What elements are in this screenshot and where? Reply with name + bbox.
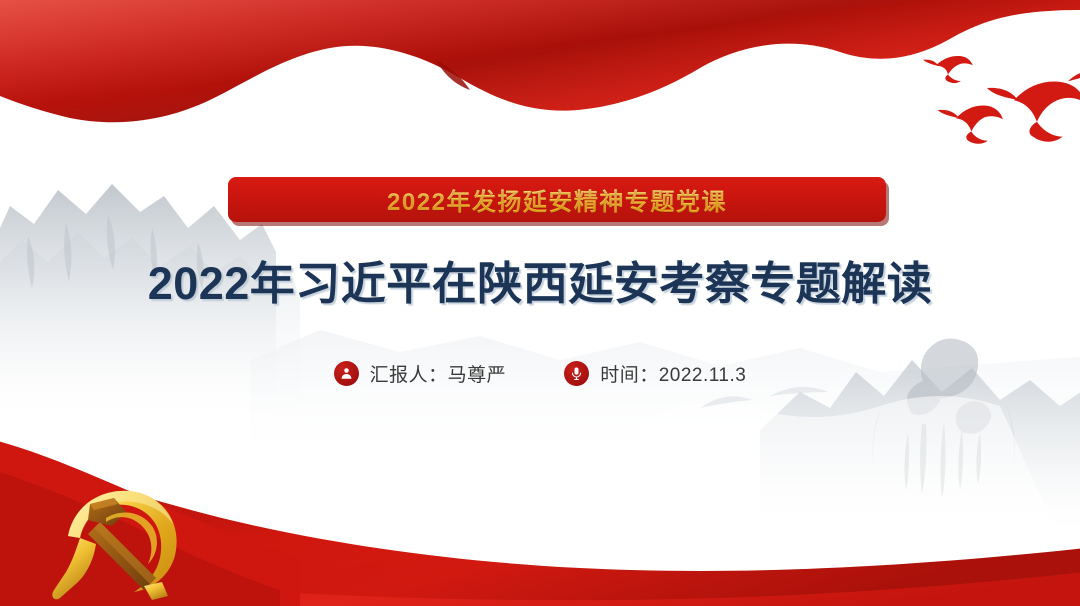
date-meta-item: 时间：2022.11.3 [564, 360, 746, 387]
presentation-slide: 2022年发扬延安精神专题党课 2022年习近平在陕西延安考察专题解读 汇报人：… [0, 0, 1080, 606]
microphone-icon [564, 361, 589, 386]
bird-icon [923, 56, 973, 83]
cpc-emblem-icon [44, 478, 194, 606]
page-title: 2022年习近平在陕西延安考察专题解读 [0, 247, 1080, 312]
subtitle-banner-text: 2022年发扬延安精神专题党课 [387, 182, 727, 217]
subtitle-banner: 2022年发扬延安精神专题党课 [228, 177, 886, 222]
bird-icon [987, 71, 1080, 142]
presenter-meta-item: 汇报人：马尊严 [334, 360, 507, 387]
bird-icon [938, 106, 1003, 144]
presenter-label: 汇报人：马尊严 [370, 360, 507, 387]
date-label: 时间：2022.11.3 [600, 360, 746, 387]
person-icon [334, 361, 359, 386]
slide-meta-row: 汇报人：马尊严 时间：2022.11.3 [0, 360, 1080, 387]
